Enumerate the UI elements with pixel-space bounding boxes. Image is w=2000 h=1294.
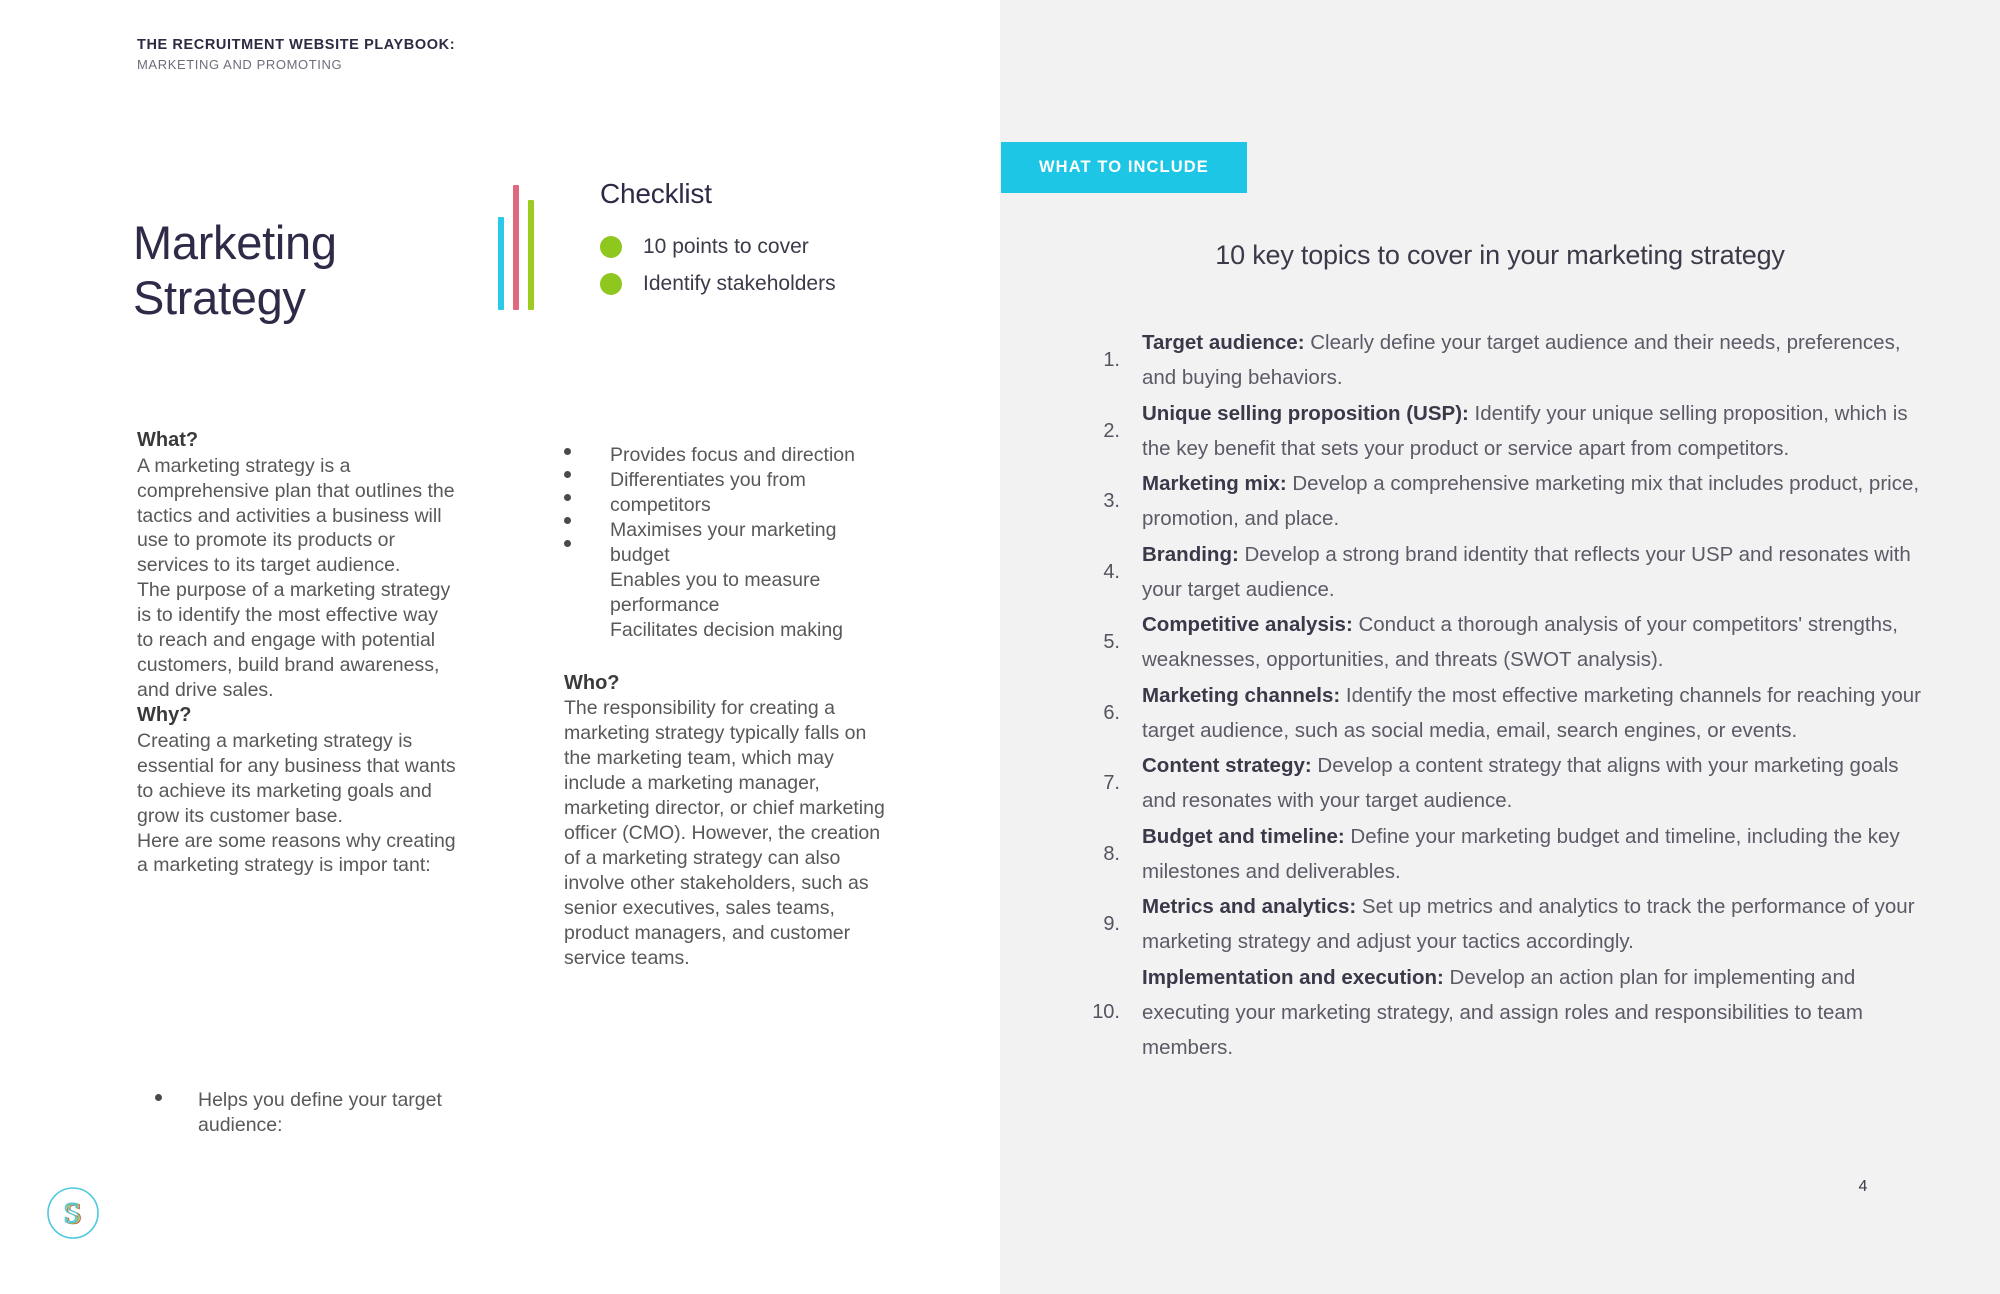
checklist-item-label: Identify stakeholders: [643, 272, 836, 296]
topic-body: Marketing channels: Identify the most ef…: [1142, 678, 1932, 749]
topic-item: 9. Metrics and analytics: Set up metrics…: [1062, 889, 1932, 960]
topic-number: 10.: [1062, 1002, 1142, 1022]
bottom-bullet-text: Helps you define your target audience:: [198, 1088, 455, 1138]
topic-body: Marketing mix: Develop a comprehensive m…: [1142, 466, 1932, 537]
decorative-bars: [498, 185, 542, 310]
topic-number: 5.: [1062, 632, 1142, 652]
bottom-bullet-markers: [155, 1094, 185, 1117]
topic-number: 8.: [1062, 844, 1142, 864]
checklist-dot-icon: [600, 273, 622, 295]
topic-term: Branding:: [1142, 543, 1239, 566]
topic-term: Unique selling proposition (USP):: [1142, 402, 1469, 425]
topic-number: 9.: [1062, 914, 1142, 934]
document-header: THE RECRUITMENT WEBSITE PLAYBOOK: MARKET…: [137, 36, 455, 73]
who-heading: Who?: [564, 671, 894, 697]
who-body: The responsibility for creating a market…: [564, 696, 894, 970]
benefits-text: Provides focus and direction Differentia…: [610, 443, 894, 643]
page-title: Marketing Strategy: [133, 216, 473, 326]
bullet-dot-icon: [564, 471, 571, 478]
topic-term: Metrics and analytics:: [1142, 895, 1356, 918]
bottom-bullet-list: Helps you define your target audience:: [155, 1088, 455, 1138]
topic-number: 2.: [1062, 421, 1142, 441]
benefits-bullet-list: Provides focus and direction Differentia…: [564, 443, 894, 643]
header-subtitle-line: MARKETING AND PROMOTING: [137, 56, 455, 74]
topic-body: Target audience: Clearly define your tar…: [1142, 325, 1932, 396]
left-text-column: What? A marketing strategy is a comprehe…: [137, 428, 457, 878]
topic-item: 6. Marketing channels: Identify the most…: [1062, 678, 1932, 749]
checklist-dot-icon: [600, 236, 622, 258]
topic-number: 7.: [1062, 773, 1142, 793]
topics-list: 1. Target audience: Clearly define your …: [1062, 325, 1932, 1065]
checklist-block: Checklist 10 points to cover Identify st…: [600, 178, 930, 309]
checklist-item[interactable]: Identify stakeholders: [600, 272, 930, 296]
topic-body: Metrics and analytics: Set up metrics an…: [1142, 889, 1932, 960]
middle-text-column: Provides focus and direction Differentia…: [564, 443, 894, 971]
what-heading: What?: [137, 428, 457, 454]
topic-body: Unique selling proposition (USP): Identi…: [1142, 396, 1932, 467]
benefits-bullet-markers: [564, 448, 594, 563]
document-spread: THE RECRUITMENT WEBSITE PLAYBOOK: MARKET…: [0, 0, 2000, 1294]
topic-term: Implementation and execution:: [1142, 966, 1444, 989]
svg-text:S: S: [63, 1197, 80, 1230]
why-body: Creating a marketing strategy is essenti…: [137, 729, 457, 879]
left-page: THE RECRUITMENT WEBSITE PLAYBOOK: MARKET…: [0, 0, 1000, 1294]
topic-body: Implementation and execution: Develop an…: [1142, 960, 1932, 1066]
what-body: A marketing strategy is a comprehensive …: [137, 454, 457, 704]
page-number: 4: [1843, 1178, 1883, 1196]
bullet-dot-icon: [155, 1094, 162, 1101]
topic-term: Marketing mix:: [1142, 472, 1287, 495]
topic-term: Target audience:: [1142, 331, 1305, 354]
what-to-include-badge: WHAT TO INCLUDE: [1001, 142, 1247, 193]
topic-body: Content strategy: Develop a content stra…: [1142, 748, 1932, 819]
topic-number: 1.: [1062, 350, 1142, 370]
topic-item: 7. Content strategy: Develop a content s…: [1062, 748, 1932, 819]
bullet-dot-icon: [564, 517, 571, 524]
right-page: WHAT TO INCLUDE 10 key topics to cover i…: [1000, 0, 2000, 1294]
topic-item: 3. Marketing mix: Develop a comprehensiv…: [1062, 466, 1932, 537]
topic-item: 8. Budget and timeline: Define your mark…: [1062, 819, 1932, 890]
checklist-heading: Checklist: [600, 178, 930, 210]
bar-cyan: [498, 217, 504, 310]
topic-description: Develop a strong brand identity that ref…: [1142, 543, 1911, 601]
topic-number: 6.: [1062, 703, 1142, 723]
bullet-dot-icon: [564, 540, 571, 547]
bullet-dot-icon: [564, 494, 571, 501]
topic-term: Budget and timeline:: [1142, 825, 1345, 848]
topic-number: 4.: [1062, 562, 1142, 582]
topic-body: Budget and timeline: Define your marketi…: [1142, 819, 1932, 890]
topic-item: 5. Competitive analysis: Conduct a thoro…: [1062, 607, 1932, 678]
topic-number: 3.: [1062, 491, 1142, 511]
topic-term: Content strategy:: [1142, 754, 1312, 777]
checklist-item-label: 10 points to cover: [643, 235, 809, 259]
bullet-dot-icon: [564, 448, 571, 455]
bar-pink: [513, 185, 519, 310]
checklist-item[interactable]: 10 points to cover: [600, 235, 930, 259]
topic-item: 4. Branding: Develop a strong brand iden…: [1062, 537, 1932, 608]
topic-term: Marketing channels:: [1142, 684, 1340, 707]
header-title-line: THE RECRUITMENT WEBSITE PLAYBOOK:: [137, 36, 455, 56]
bar-green: [528, 200, 534, 310]
topic-item: 1. Target audience: Clearly define your …: [1062, 325, 1932, 396]
right-panel-heading: 10 key topics to cover in your marketing…: [1000, 240, 2000, 271]
topic-item: 2. Unique selling proposition (USP): Ide…: [1062, 396, 1932, 467]
topic-term: Competitive analysis:: [1142, 613, 1353, 636]
brand-logo[interactable]: S S S: [45, 1185, 101, 1241]
why-heading: Why?: [137, 703, 457, 729]
topic-body: Competitive analysis: Conduct a thorough…: [1142, 607, 1932, 678]
topic-body: Branding: Develop a strong brand identit…: [1142, 537, 1932, 608]
topic-item: 10. Implementation and execution: Develo…: [1062, 960, 1932, 1066]
